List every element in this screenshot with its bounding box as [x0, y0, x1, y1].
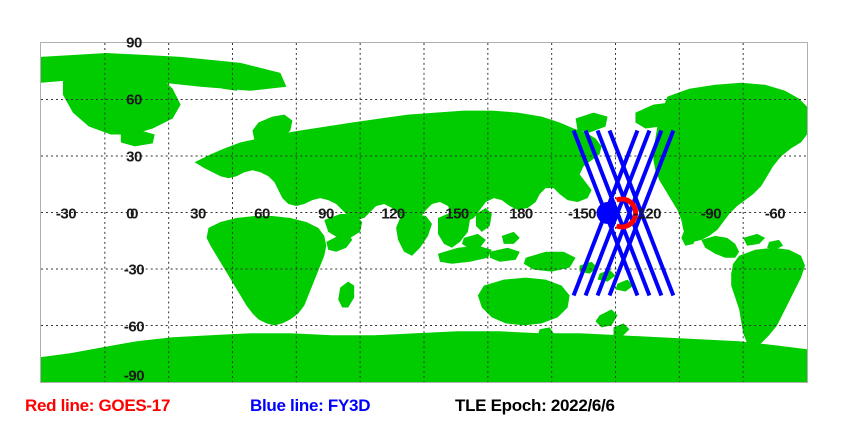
figure-legend: Red line: GOES-17 Blue line: FY3D TLE Ep… [0, 392, 850, 425]
fy3d-position-dot [597, 202, 619, 224]
world-map-plot-area: 90 60 30 0 -30 -60 -90 -30 0 30 60 90 12… [40, 42, 808, 383]
legend-tle-epoch: TLE Epoch: 2022/6/6 [455, 396, 615, 416]
ground-track-map-figure: 90 60 30 0 -30 -60 -90 -30 0 30 60 90 12… [0, 0, 850, 425]
legend-red-line-goes17: Red line: GOES-17 [25, 396, 170, 416]
world-map-svg [41, 43, 807, 382]
legend-blue-line-fy3d: Blue line: FY3D [250, 396, 370, 416]
